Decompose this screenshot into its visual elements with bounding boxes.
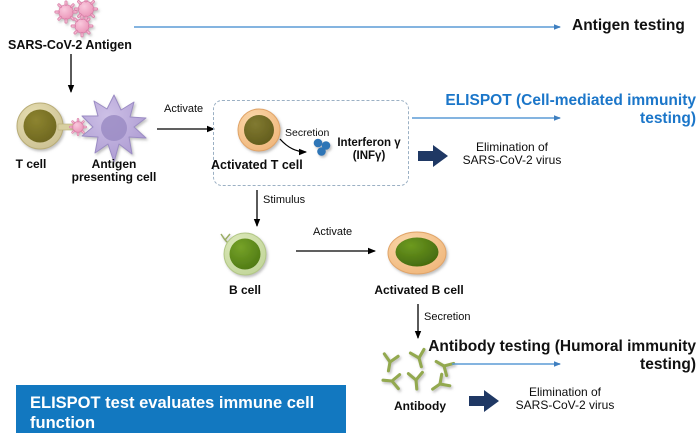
antigen-label: SARS-CoV-2 Antigen: [8, 38, 132, 52]
output-antigen-testing: Antigen testing: [572, 17, 685, 35]
block-arrow-elimination-bottom: [468, 388, 500, 414]
edge-label-activate-b: Activate: [313, 226, 352, 238]
antibody: [382, 354, 399, 372]
antigen-presenting-cell-label: Antigen presenting cell: [62, 158, 166, 185]
elimination-label-top: Elimination of SARS-CoV-2 virus: [452, 141, 572, 168]
diagram-canvas: SARS-CoV-2 Antigen Antigen testing: [0, 0, 700, 440]
virus-particle: [71, 15, 93, 37]
flow-arrow-antigen-testing: [130, 14, 570, 40]
elimination-label-bottom: Elimination of SARS-CoV-2 virus: [500, 386, 630, 413]
activated-b-cell-label: Activated B cell: [366, 284, 472, 297]
antibody: [429, 374, 450, 395]
activated-b-cell-icon: [386, 228, 450, 280]
antibody-label: Antibody: [378, 400, 462, 413]
antibody: [382, 373, 399, 388]
arrow-activate-b-cell: [295, 242, 383, 260]
virus-particle-cluster: [46, 0, 120, 40]
summary-banner: ELISPOT test evaluates immune cell funct…: [16, 385, 346, 433]
b-cell-icon: [216, 226, 274, 282]
antibody: [408, 372, 423, 389]
activated-t-cell-label: Activated T cell: [211, 158, 303, 172]
edge-label-activate-t: Activate: [164, 103, 203, 115]
antigen-presenting-cell-icon: [78, 92, 150, 166]
output-antibody-testing: Antibody testing (Humoral immunity testi…: [400, 338, 696, 374]
edge-label-stimulus: Stimulus: [263, 194, 305, 206]
t-cell-label: T cell: [0, 158, 62, 171]
virus-particle: [74, 0, 97, 21]
b-cell-label: B cell: [212, 284, 278, 297]
block-arrow-elimination-top: [417, 143, 449, 169]
output-elispot: ELISPOT (Cell-mediated immunity testing): [400, 92, 696, 128]
edge-label-secretion-b: Secretion: [424, 311, 470, 323]
interferon-label: Interferon γ (INFγ): [330, 137, 408, 163]
